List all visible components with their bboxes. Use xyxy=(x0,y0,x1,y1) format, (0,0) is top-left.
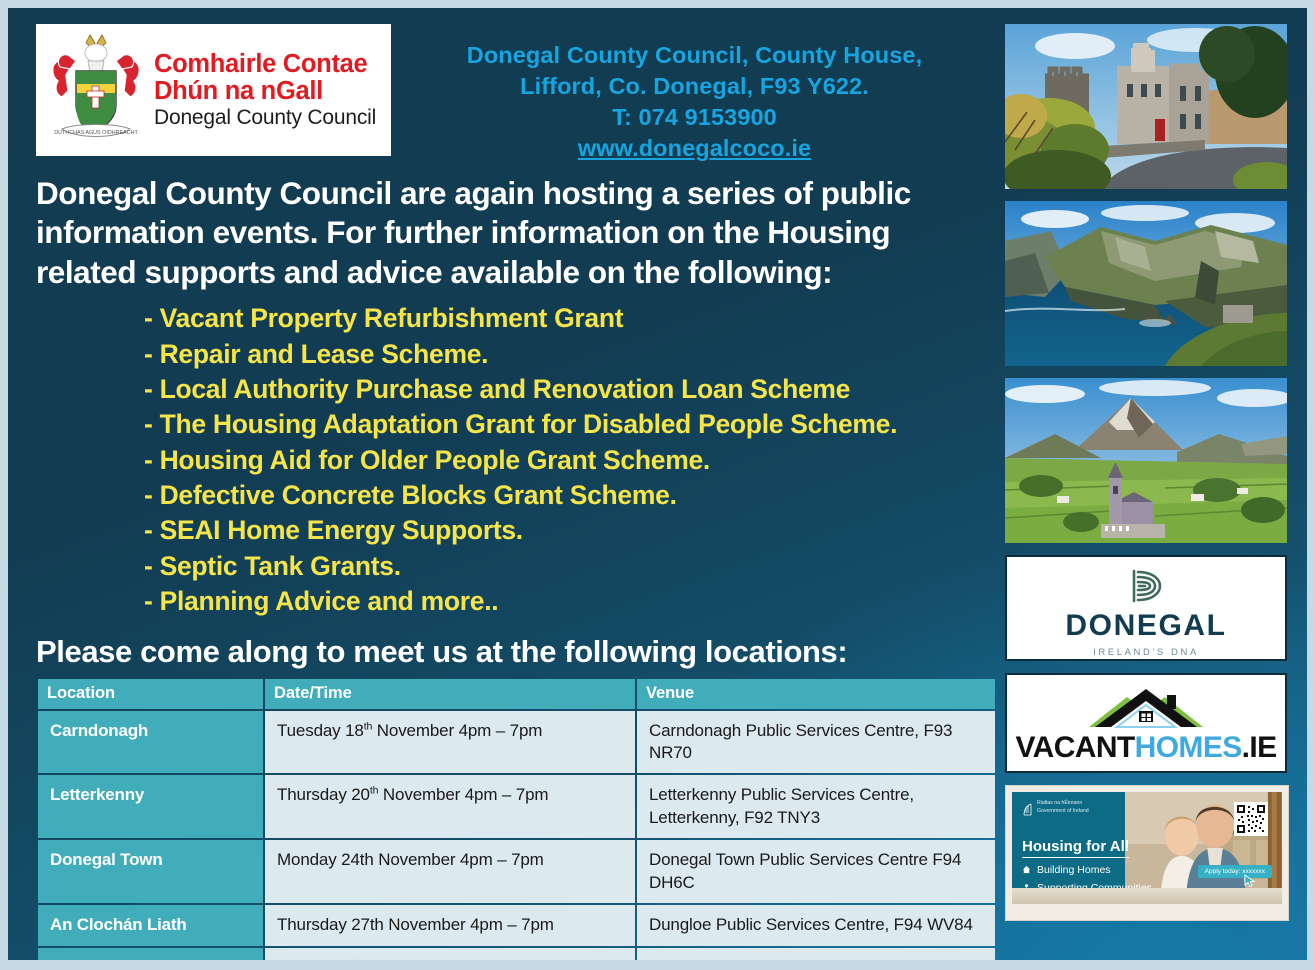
council-website-link[interactable]: www.donegalcoco.ie xyxy=(578,133,811,164)
donegal-tagline: IRELAND'S DNA xyxy=(1093,647,1199,658)
table-row: Ballybofey/Stranorlar Monday 1st Decembe… xyxy=(38,948,995,960)
vacant-text: VACANT xyxy=(1015,731,1134,764)
scheme-item: Housing Aid for Older People Grant Schem… xyxy=(144,443,998,478)
main-content: DUTHCHAS AGUS OIDHREACHT Comhairle Conta… xyxy=(36,24,998,960)
scheme-item: Vacant Property Refurbishment Grant xyxy=(144,301,998,336)
government-emblem-line2: Government of Ireland xyxy=(1037,808,1152,816)
scheme-item: SEAI Home Energy Supports. xyxy=(144,513,998,548)
cell-venue: Dungloe Public Services Centre, F94 WV84 xyxy=(637,905,995,945)
cell-location: Carndonagh xyxy=(38,711,263,774)
scheme-list: Vacant Property Refurbishment Grant Repa… xyxy=(36,301,998,619)
ie-text: .IE xyxy=(1242,731,1277,764)
county-crest-icon: DUTHCHAS AGUS OIDHREACHT xyxy=(46,31,146,149)
table-row: An Clochán Liath Thursday 27th November … xyxy=(38,905,995,945)
mountain-photo xyxy=(1005,378,1287,543)
donegal-spiral-icon xyxy=(1124,566,1168,606)
vacanthomes-logo[interactable]: VACANTHOMES.IE xyxy=(1005,673,1287,773)
events-table: Location Date/Time Venue Carndonagh Tues… xyxy=(36,677,997,961)
table-row: Carndonagh Tuesday 18th November 4pm – 7… xyxy=(38,711,995,774)
hfa-bullet-building-homes: Building Homes xyxy=(1022,864,1152,876)
donegal-brand-logo: DONEGAL IRELAND'S DNA xyxy=(1005,555,1287,661)
cell-venue: Donegal Town Public Services Centre F94 … xyxy=(637,840,995,903)
scheme-item: Repair and Lease Scheme. xyxy=(144,337,998,372)
address-line1: Donegal County Council, County House, xyxy=(391,40,998,71)
hfa-inner: Rialtas na hÉireann Government of Irelan… xyxy=(1012,792,1282,904)
cliffs-photo xyxy=(1005,201,1287,366)
vacanthomes-wordmark: VACANTHOMES.IE xyxy=(1015,733,1276,763)
qr-code[interactable] xyxy=(1234,802,1268,836)
hfa-title: Housing for All xyxy=(1022,838,1129,858)
call-to-action: Please come along to meet us at the foll… xyxy=(36,634,998,670)
cell-datetime: Monday 24th November 4pm – 7pm xyxy=(265,840,635,903)
logo-wordmark: Comhairle Contae Dhún na nGall Donegal C… xyxy=(154,51,376,129)
intro-paragraph: Donegal County Council are again hosting… xyxy=(36,174,971,292)
apply-today-button[interactable]: Apply today: xxxxxxx xyxy=(1198,865,1272,878)
cell-datetime: Monday 1st December 4pm – 7pm xyxy=(265,948,635,960)
house-roof-icon xyxy=(1071,683,1221,731)
cell-location: Letterkenny xyxy=(38,775,263,838)
cell-location: Ballybofey/Stranorlar xyxy=(38,948,263,960)
scheme-item: The Housing Adaptation Grant for Disable… xyxy=(144,407,998,442)
cell-location: An Clochán Liath xyxy=(38,905,263,945)
housing-for-all-banner[interactable]: Rialtas na hÉireann Government of Irelan… xyxy=(1005,785,1289,921)
cell-venue: The Base, Stranorlar, F93 A0E4 xyxy=(637,948,995,960)
cursor-icon xyxy=(1244,874,1256,888)
scheme-item: Septic Tank Grants. xyxy=(144,549,998,584)
hfa-counter-surface xyxy=(1012,888,1282,904)
cell-datetime: Thursday 27th November 4pm – 7pm xyxy=(265,905,635,945)
header: DUTHCHAS AGUS OIDHREACHT Comhairle Conta… xyxy=(36,24,998,164)
scheme-item: Local Authority Purchase and Renovation … xyxy=(144,372,998,407)
homes-text: HOMES xyxy=(1135,731,1242,764)
hfa-bullet1-label: Building Homes xyxy=(1037,864,1111,876)
castle-photo xyxy=(1005,24,1287,189)
cell-venue: Carndonagh Public Services Centre, F93 N… xyxy=(637,711,995,774)
table-row: Donegal Town Monday 24th November 4pm – … xyxy=(38,840,995,903)
logo-english: Donegal County Council xyxy=(154,107,376,129)
column-header-datetime: Date/Time xyxy=(265,679,635,709)
scheme-item: Planning Advice and more.. xyxy=(144,584,998,619)
table-row: Letterkenny Thursday 20th November 4pm –… xyxy=(38,775,995,838)
column-header-location: Location xyxy=(38,679,263,709)
scheme-item: Defective Concrete Blocks Grant Scheme. xyxy=(144,478,998,513)
sidebar: DONEGAL IRELAND'S DNA VACANTHOMES.IE xyxy=(1005,24,1293,933)
column-header-venue: Venue xyxy=(637,679,995,709)
hfa-text-block: Rialtas na hÉireann Government of Irelan… xyxy=(1022,800,1152,894)
logo-irish-line1: Comhairle Contae xyxy=(154,51,376,78)
cell-location: Donegal Town xyxy=(38,840,263,903)
address-line2: Lifford, Co. Donegal, F93 Y622. xyxy=(391,71,998,102)
svg-text:DUTHCHAS AGUS OIDHREACHT: DUTHCHAS AGUS OIDHREACHT xyxy=(54,130,138,136)
cell-venue: Letterkenny Public Services Centre, Lett… xyxy=(637,775,995,838)
ireland-harp-icon xyxy=(1022,802,1033,817)
donegal-wordmark: DONEGAL xyxy=(1065,611,1226,641)
poster-inner: DUTHCHAS AGUS OIDHREACHT Comhairle Conta… xyxy=(8,8,1307,960)
home-icon xyxy=(1022,865,1031,874)
cell-datetime: Thursday 20th November 4pm – 7pm xyxy=(265,775,635,838)
government-emblem-line1: Rialtas na hÉireann xyxy=(1037,800,1152,808)
cell-datetime: Tuesday 18th November 4pm – 7pm xyxy=(265,711,635,774)
council-address: Donegal County Council, County House, Li… xyxy=(391,24,998,164)
logo-irish-line2: Dhún na nGall xyxy=(154,78,376,105)
table-header-row: Location Date/Time Venue xyxy=(38,679,995,709)
address-phone: T: 074 9153900 xyxy=(391,102,998,133)
council-logo: DUTHCHAS AGUS OIDHREACHT Comhairle Conta… xyxy=(36,24,391,156)
poster: DUTHCHAS AGUS OIDHREACHT Comhairle Conta… xyxy=(0,0,1315,970)
